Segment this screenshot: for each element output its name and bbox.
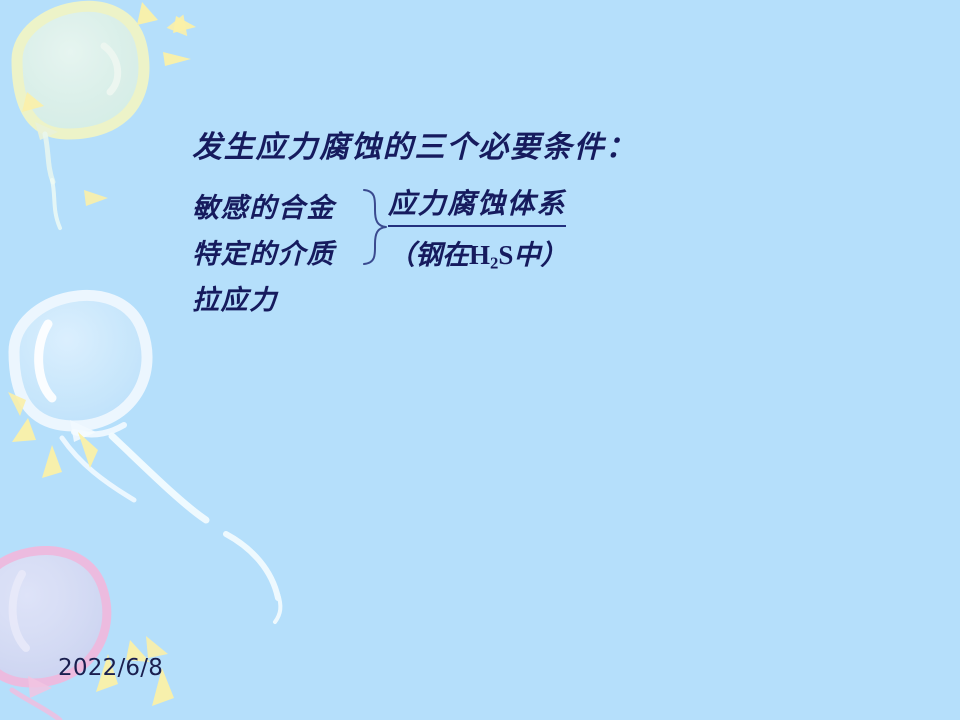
system-detail-suffix: 中） <box>513 240 567 271</box>
system-detail-prefix: （钢在 <box>388 240 469 271</box>
system-detail: （钢在H2S中） <box>388 236 567 283</box>
date-stamp: 2022/6/8 <box>58 655 163 681</box>
system-label: 应力腐蚀体系 <box>388 185 566 227</box>
chemical-formula: H2S <box>469 240 513 270</box>
presentation-slide: 发生应力腐蚀的三个必要条件： 敏感的合金 特定的介质 拉应力 应力腐蚀体系 （钢… <box>0 0 960 720</box>
formula-element-h: H <box>469 240 490 270</box>
slide-title: 发生应力腐蚀的三个必要条件： <box>192 128 637 168</box>
conditions-list: 敏感的合金 特定的介质 拉应力 <box>192 186 335 324</box>
formula-element-s: S <box>498 240 513 270</box>
condition-item-medium: 特定的介质 <box>192 232 335 278</box>
condition-item-tensile-stress: 拉应力 <box>192 278 335 324</box>
slide-content: 发生应力腐蚀的三个必要条件： 敏感的合金 特定的介质 拉应力 应力腐蚀体系 （钢… <box>0 0 960 720</box>
condition-item-alloy: 敏感的合金 <box>192 186 335 232</box>
stress-corrosion-system-block: 应力腐蚀体系 （钢在H2S中） <box>388 185 567 283</box>
